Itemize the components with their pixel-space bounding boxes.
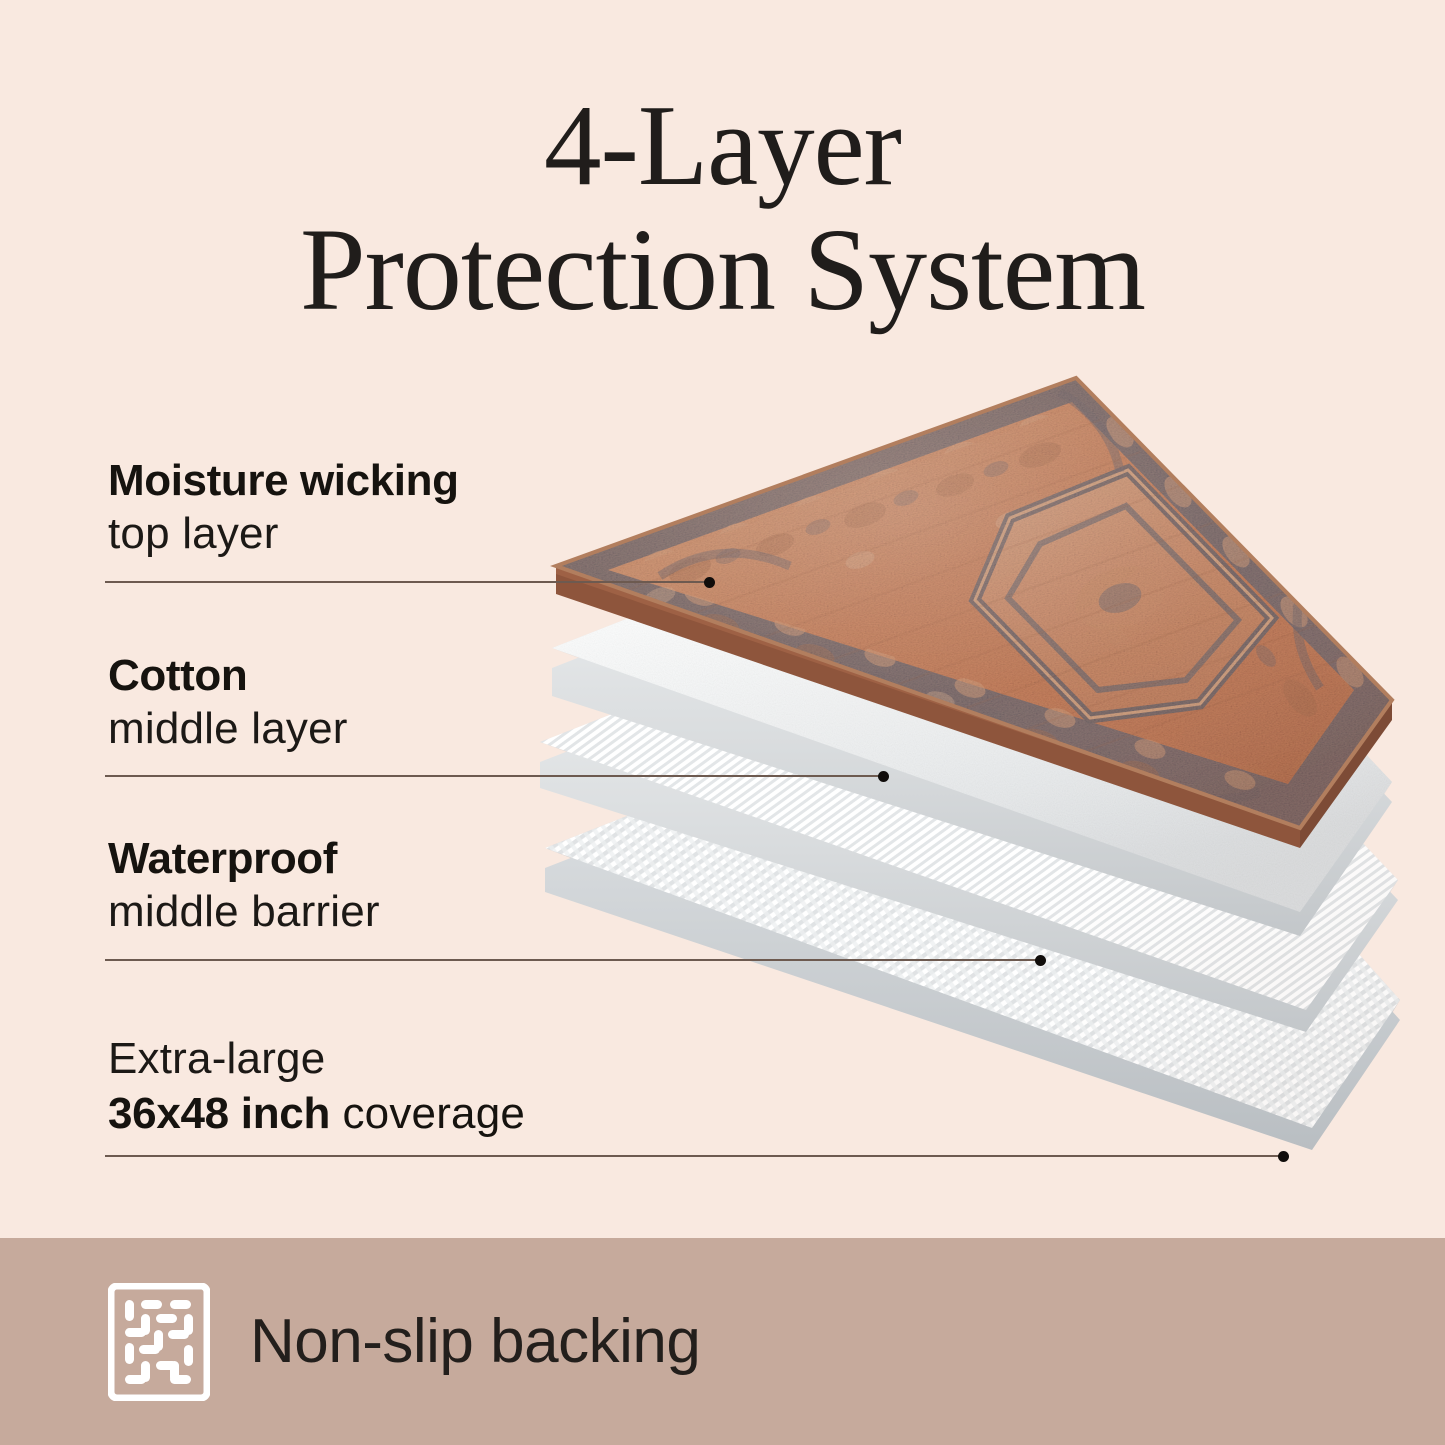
title-line-2: Protection System xyxy=(0,208,1445,332)
coverage-dimension-suffix: coverage xyxy=(330,1089,525,1138)
layer-waterproof-barrier xyxy=(540,536,1398,1032)
layer-nonslip-backing xyxy=(545,640,1400,1150)
label-waterproof: Waterproof middle barrier xyxy=(108,833,380,939)
label-title: Waterproof xyxy=(108,833,380,885)
leader-line-moisture-wicking xyxy=(105,581,710,583)
coverage-size-line: Extra-large xyxy=(108,1032,525,1086)
label-cotton: Cotton middle layer xyxy=(108,650,348,756)
coverage-dimension-line: 36x48 inch coverage xyxy=(108,1086,525,1142)
label-subtitle: middle barrier xyxy=(108,885,380,939)
footer-label: Non-slip backing xyxy=(250,1306,700,1377)
label-title: Cotton xyxy=(108,650,348,702)
non-slip-grid-icon xyxy=(108,1283,210,1401)
leader-line-coverage xyxy=(105,1155,1284,1157)
leader-dot xyxy=(878,771,889,782)
leader-line-waterproof xyxy=(105,959,1041,961)
label-subtitle: top layer xyxy=(108,507,459,561)
leader-dot xyxy=(704,577,715,588)
coverage-dimension-value: 36x48 inch xyxy=(108,1089,330,1138)
title-line-1: 4-Layer xyxy=(0,84,1445,208)
leader-dot xyxy=(1278,1151,1289,1162)
layer-rug-top xyxy=(556,378,1392,848)
leader-line-cotton xyxy=(105,775,884,777)
label-moisture-wicking: Moisture wicking top layer xyxy=(108,455,459,561)
page-title: 4-Layer Protection System xyxy=(0,84,1445,332)
infographic-page: 4-Layer Protection System Moisture wicki… xyxy=(0,0,1445,1445)
layer-cotton xyxy=(552,444,1392,936)
label-title: Moisture wicking xyxy=(108,455,459,507)
footer-band: Non-slip backing xyxy=(0,1238,1445,1445)
rug-face xyxy=(556,378,1392,840)
rug-medallion xyxy=(975,470,1272,718)
leader-dot xyxy=(1035,955,1046,966)
label-subtitle: middle layer xyxy=(108,702,348,756)
label-coverage: Extra-large 36x48 inch coverage xyxy=(108,1032,525,1142)
